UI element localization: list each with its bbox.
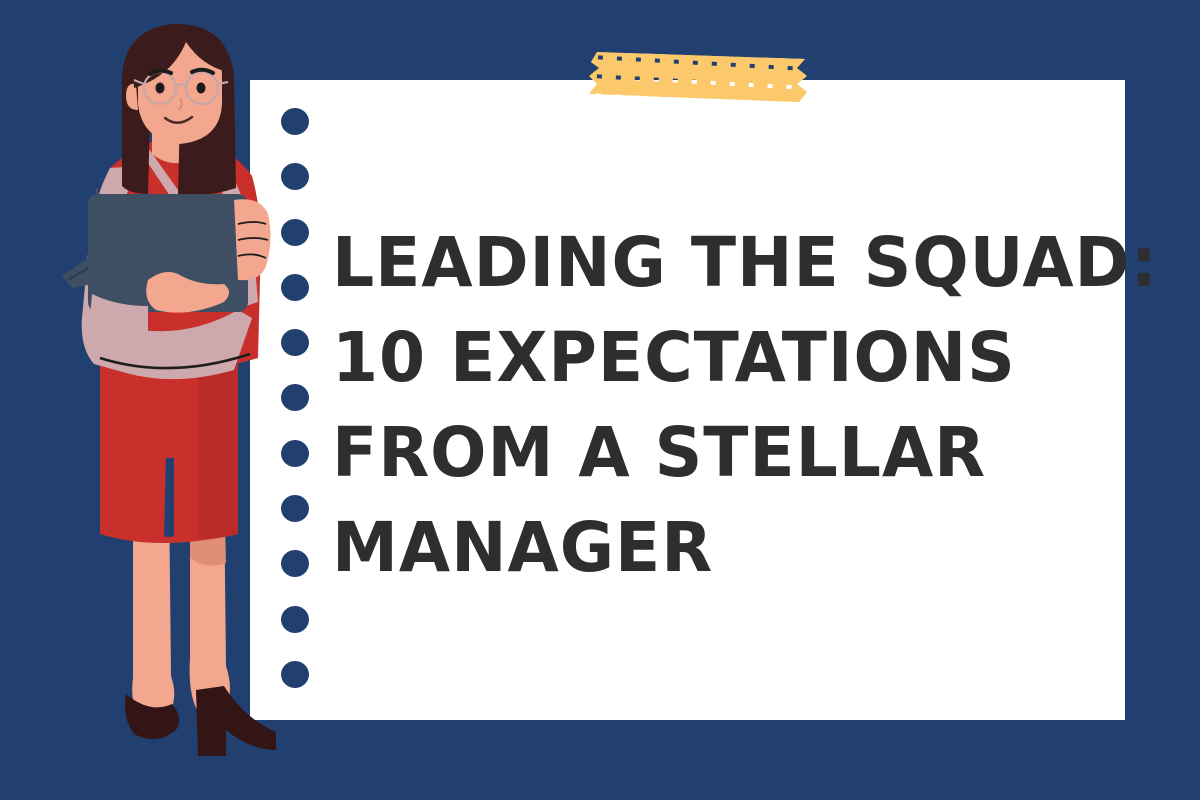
washi-tape-grid bbox=[583, 38, 815, 116]
title-line-4: MANAGER bbox=[332, 501, 1062, 596]
poster-canvas: LEADING THE SQUAD: 10 EXPECTATIONS FROM … bbox=[0, 0, 1200, 800]
page-title: LEADING THE SQUAD: 10 EXPECTATIONS FROM … bbox=[332, 216, 1092, 596]
title-line-2: 10 EXPECTATIONS bbox=[332, 311, 1062, 406]
shoe-right bbox=[196, 686, 276, 756]
businesswoman-with-laptop-illustration bbox=[38, 18, 298, 793]
title-line-1: LEADING THE SQUAD: bbox=[332, 216, 1062, 311]
washi-tape-decoration bbox=[583, 38, 815, 116]
eye-right bbox=[197, 83, 206, 94]
title-line-3: FROM A STELLAR bbox=[332, 406, 1062, 501]
eye-left bbox=[156, 83, 165, 94]
